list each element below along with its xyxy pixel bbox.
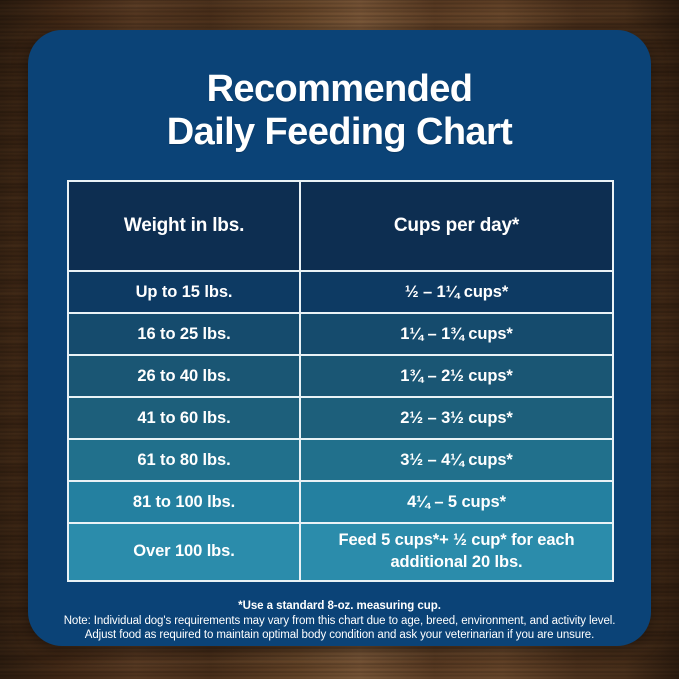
cell-weight: 81 to 100 lbs.	[68, 481, 300, 523]
cell-cups: 4¼ – 5 cups*	[300, 481, 613, 523]
footnote-note-line-2: Adjust food as required to maintain opti…	[56, 629, 623, 641]
table-row: 26 to 40 lbs.1¾ – 2½ cups*	[68, 355, 613, 397]
column-header-weight: Weight in lbs.	[68, 181, 300, 271]
cell-weight: 26 to 40 lbs.	[68, 355, 300, 397]
cell-cups: 1¾ – 2½ cups*	[300, 355, 613, 397]
footnotes: *Use a standard 8-oz. measuring cup. Not…	[56, 600, 623, 643]
title-line-1: Recommended	[68, 68, 611, 111]
cell-weight: Up to 15 lbs.	[68, 271, 300, 313]
cell-cups: ½ – 1¼ cups*	[300, 271, 613, 313]
footnote-note-line-1: Note: Individual dog's requirements may …	[56, 615, 623, 627]
cell-weight: 16 to 25 lbs.	[68, 313, 300, 355]
title-line-2: Daily Feeding Chart	[68, 111, 611, 154]
column-header-cups: Cups per day*	[300, 181, 613, 271]
table-row: 41 to 60 lbs.2½ – 3½ cups*	[68, 397, 613, 439]
feeding-chart-table: Weight in lbs. Cups per day* Up to 15 lb…	[67, 180, 614, 582]
feeding-chart-card: Recommended Daily Feeding Chart Weight i…	[28, 30, 651, 646]
cell-weight: 41 to 60 lbs.	[68, 397, 300, 439]
table-row: Over 100 lbs.Feed 5 cups*+ ½ cup* for ea…	[68, 523, 613, 581]
table-body: Up to 15 lbs.½ – 1¼ cups*16 to 25 lbs.1¼…	[68, 271, 613, 581]
cell-cups: 1¼ – 1¾ cups*	[300, 313, 613, 355]
cell-cups: 2½ – 3½ cups*	[300, 397, 613, 439]
cell-weight: 61 to 80 lbs.	[68, 439, 300, 481]
table-row: 61 to 80 lbs.3½ – 4¼ cups*	[68, 439, 613, 481]
cell-weight: Over 100 lbs.	[68, 523, 300, 581]
table-row: 81 to 100 lbs.4¼ – 5 cups*	[68, 481, 613, 523]
table-row: 16 to 25 lbs.1¼ – 1¾ cups*	[68, 313, 613, 355]
table-row: Up to 15 lbs.½ – 1¼ cups*	[68, 271, 613, 313]
footnote-measuring-cup: *Use a standard 8-oz. measuring cup.	[56, 600, 623, 612]
table-header-row: Weight in lbs. Cups per day*	[68, 181, 613, 271]
cell-cups: 3½ – 4¼ cups*	[300, 439, 613, 481]
cell-cups: Feed 5 cups*+ ½ cup* for each additional…	[300, 523, 613, 581]
page-title: Recommended Daily Feeding Chart	[28, 30, 651, 155]
